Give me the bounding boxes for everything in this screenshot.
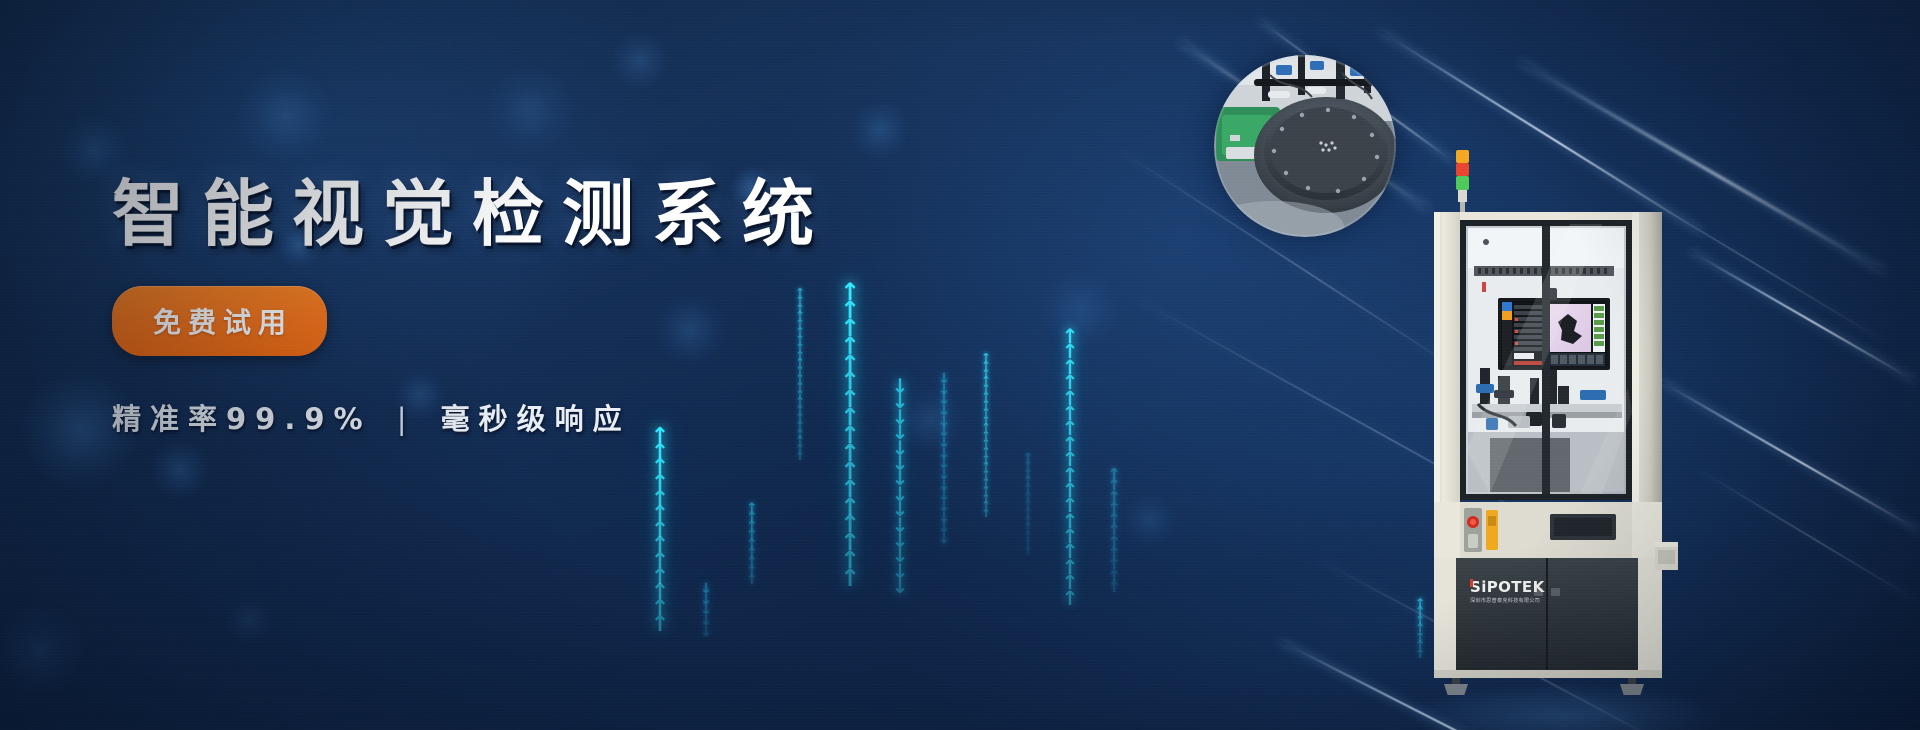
chevron-down-icon: ↓ [892,395,909,407]
bowl-feeder-inset-photo [1214,55,1396,237]
chevron-up-icon: ↑ [1108,538,1121,547]
chevron-up-icon: ↑ [1062,592,1079,604]
chevron-up-icon: ↑ [1415,642,1425,649]
chevron-column: ↑↑↑↑↑↑↑↑↑↑↑↑↑↑↑↑↑↑ [1050,330,1090,607]
brand-logo-plate: SiPOTEK 深圳市思普泰克科技有限公司 [1470,578,1546,604]
chevron-down-icon: ↓ [700,596,712,605]
chevron-up-icon: ↑ [1415,651,1425,658]
cta-row: 免费试用 [112,286,832,356]
chevron-up-icon: ↑ [840,446,860,461]
chevron-down-icon: ↓ [892,411,909,423]
brand-sub-text: 深圳市思普泰克科技有限公司 [1470,596,1540,604]
chevron-up-icon: ↑ [840,339,860,354]
chevron-column: ↑↑↑↑↑↑↑↑↑↑↑↑↑↑↑↑↑↑↑↑↑ [975,355,997,519]
chevron-up-icon: ↑ [981,386,990,393]
chevron-down-icon: ↓ [892,488,909,500]
chevron-down-icon: ↓ [892,472,909,484]
chevron-up-icon: ↑ [840,535,860,550]
chevron-up-icon: ↑ [1023,549,1032,556]
chevron-up-icon: ↑ [840,482,860,497]
chevron-up-icon: ↑ [981,363,990,370]
chevron-up-icon: ↑ [840,464,860,479]
chevron-down-icon: ↓ [938,524,950,533]
chevron-up-icon: ↑ [840,571,860,586]
chevron-up-icon: ↑ [795,446,804,453]
bowl-feeder-illustration [1214,55,1396,237]
chevron-up-icon: ↑ [651,493,669,507]
chevron-down-icon: ↓ [892,565,909,577]
chevron-up-icon: ↑ [1108,470,1121,479]
chevron-up-icon: ↑ [1108,572,1121,581]
chevron-down-icon: ↓ [938,375,950,384]
chevron-up-icon: ↑ [840,517,860,532]
chevron-down-icon: ↓ [892,457,909,469]
chevron-up-icon: ↑ [747,532,758,540]
chevron-up-icon: ↑ [981,480,990,487]
chevron-down-icon: ↓ [892,442,909,454]
hero-text-block: 智能视觉检测系统 免费试用 精准率99.9% | 毫秒级响应 [112,178,832,438]
chevron-up-icon: ↑ [840,500,860,515]
chevron-column: ↑↑↑↑↑↑↑↑↑ [739,505,765,586]
chevron-up-icon: ↑ [1062,484,1079,496]
chevron-up-icon: ↑ [840,553,860,568]
chevron-up-icon: ↑ [747,550,758,558]
chevron-column: ↑↑↑↑↑↑↑↑↑↑↑↑↑↑↑↑↑ [826,285,874,589]
chevron-up-icon: ↑ [1023,455,1032,462]
bokeh-dot [610,30,670,90]
chevron-up-icon: ↑ [981,441,990,448]
bokeh-dot [1040,270,1120,350]
hero-banner: ↑↑↑↑↑↑↑↑↑↑↑↑↑↓↓↓↓↓↑↑↑↑↑↑↑↑↑↑↑↑↑↑↑↑↑↑↑↑↑↑… [0,0,1920,730]
chevron-up-icon: ↑ [651,571,669,585]
chevron-up-icon: ↑ [1108,560,1121,569]
chevron-up-icon: ↑ [981,488,990,495]
chevron-up-icon: ↑ [1062,469,1079,481]
chevron-column: ↑↑↑↑↑↑↑↑↑↑↑ [1099,470,1129,594]
chevron-up-icon: ↑ [981,496,990,503]
chevron-up-icon: ↑ [651,555,669,569]
chevron-up-icon: ↑ [981,394,990,401]
machine-illustration: SiPOTEK 深圳市思普泰克科技有限公司 [1430,150,1678,695]
chevron-down-icon: ↓ [938,386,950,395]
chevron-up-icon: ↑ [1062,330,1079,342]
chevron-up-icon: ↑ [1108,526,1121,535]
chevron-up-icon: ↑ [981,464,990,471]
free-trial-button[interactable]: 免费试用 [112,286,327,356]
chevron-up-icon: ↑ [651,586,669,600]
chevron-up-icon: ↑ [840,285,860,300]
bokeh-dot [150,440,210,500]
chevron-up-icon: ↑ [1062,438,1079,450]
chevron-up-icon: ↑ [1062,561,1079,573]
chevron-up-icon: ↑ [1108,493,1121,502]
chevron-up-icon: ↑ [1062,515,1079,527]
chevron-up-icon: ↑ [651,461,669,475]
machine-feet [1443,678,1645,695]
chevron-up-icon: ↑ [1415,625,1425,632]
stat-accuracy: 精准率99.9% [112,402,372,436]
chevron-up-icon: ↑ [1415,617,1425,624]
chevron-up-icon: ↑ [981,472,990,479]
brand-logo-text: SiPOTEK [1470,578,1546,596]
chevron-down-icon: ↓ [938,471,950,480]
chevron-down-icon: ↓ [892,549,909,561]
bokeh-dot [0,605,85,695]
chevron-up-icon: ↑ [1062,407,1079,419]
chevron-up-icon: ↑ [1062,545,1079,557]
chevron-up-icon: ↑ [747,514,758,522]
chevron-up-icon: ↑ [840,392,860,407]
chevron-up-icon: ↑ [651,477,669,491]
chevron-down-icon: ↓ [938,482,950,491]
chevron-up-icon: ↑ [840,357,860,372]
chevron-down-icon: ↓ [938,407,950,416]
chevron-up-icon: ↑ [1062,422,1079,434]
chevron-up-icon: ↑ [840,428,860,443]
light-streak [1700,470,1915,600]
chevron-up-icon: ↑ [747,505,758,513]
chevron-down-icon: ↓ [938,535,950,544]
chevron-up-icon: ↑ [1023,494,1032,501]
chevron-up-icon: ↑ [981,503,990,510]
chevron-up-icon: ↑ [1023,541,1032,548]
chevron-down-icon: ↓ [700,585,712,594]
chevron-up-icon: ↑ [1062,392,1079,404]
chevron-column: ↓↓↓↓↓↓↓↓↓↓↓↓↓↓ [880,380,920,595]
chevron-up-icon: ↑ [1108,515,1121,524]
bokeh-dot [238,68,333,163]
chevron-up-icon: ↑ [981,511,990,518]
chevron-up-icon: ↑ [840,303,860,318]
inspection-machine-photo: SiPOTEK 深圳市思普泰克科技有限公司 [1430,150,1678,695]
chevron-up-icon: ↑ [1023,518,1032,525]
bokeh-dot [225,595,275,645]
chevron-up-icon: ↑ [1023,510,1032,517]
chevron-up-icon: ↑ [747,559,758,567]
chevron-up-icon: ↑ [1108,481,1121,490]
light-streak [1660,380,1920,532]
chevron-column: ↑↑↑↑↑↑↑↑↑↑↑↑↑ [1017,455,1039,557]
chevron-down-icon: ↓ [938,396,950,405]
chevron-column: ↑↑↑↑↑↑↑↑↑↑↑↑↑ [638,430,682,633]
chevron-up-icon: ↑ [1062,453,1079,465]
chevron-up-icon: ↑ [1023,502,1032,509]
chevron-up-icon: ↑ [651,539,669,553]
chevron-up-icon: ↑ [651,524,669,538]
chevron-down-icon: ↓ [892,380,909,392]
chevron-up-icon: ↑ [1108,549,1121,558]
bokeh-dot [897,387,963,453]
chevron-up-icon: ↑ [747,523,758,531]
chevron-up-icon: ↑ [651,618,669,632]
chevron-up-icon: ↑ [981,449,990,456]
chevron-up-icon: ↑ [981,371,990,378]
bokeh-dot [1123,493,1177,547]
light-streak [1690,250,1916,382]
chevron-down-icon: ↓ [938,428,950,437]
chevron-up-icon: ↑ [1062,499,1079,511]
page-title: 智能视觉检测系统 [112,178,832,250]
chevron-down-icon: ↓ [938,492,950,501]
chevron-down-icon: ↓ [892,534,909,546]
chevron-down-icon: ↓ [892,519,909,531]
chevron-down-icon: ↓ [892,426,909,438]
chevron-up-icon: ↑ [795,438,804,445]
chevron-up-icon: ↑ [981,457,990,464]
chevron-up-icon: ↑ [981,378,990,385]
chevron-up-icon: ↑ [840,321,860,336]
chevron-down-icon: ↓ [938,514,950,523]
chevron-up-icon: ↑ [981,433,990,440]
chevron-up-icon: ↑ [981,410,990,417]
chevron-up-icon: ↑ [747,541,758,549]
chevron-up-icon: ↑ [1023,486,1032,493]
chevron-down-icon: ↓ [892,580,909,592]
chevron-up-icon: ↑ [1023,478,1032,485]
chevron-up-icon: ↑ [840,374,860,389]
chevron-down-icon: ↓ [938,439,950,448]
signal-tower-lamp [1456,150,1469,215]
chevron-down-icon: ↓ [938,460,950,469]
chevron-up-icon: ↑ [747,577,758,585]
chevron-up-icon: ↑ [1023,525,1032,532]
chevron-up-icon: ↑ [981,355,990,362]
bokeh-dot [851,101,909,159]
stats-line: 精准率99.9% | 毫秒级响应 [112,396,832,438]
chevron-up-icon: ↑ [651,446,669,460]
chevron-down-icon: ↓ [938,503,950,512]
bokeh-dot [486,66,574,154]
chevron-up-icon: ↑ [1023,463,1032,470]
chevron-down-icon: ↓ [938,450,950,459]
chevron-column: ↓↓↓↓↓ [692,585,720,638]
stat-response: 毫秒级响应 [441,402,631,436]
chevron-down-icon: ↓ [700,628,712,637]
chevron-up-icon: ↑ [651,508,669,522]
chevron-up-icon: ↑ [651,602,669,616]
chevron-up-icon: ↑ [1108,504,1121,513]
chevron-up-icon: ↑ [1062,361,1079,373]
chevron-up-icon: ↑ [1415,600,1425,607]
chevron-column: ↓↓↓↓↓↓↓↓↓↓↓↓↓↓↓↓ [930,375,958,546]
chevron-up-icon: ↑ [795,454,804,461]
chevron-up-icon: ↑ [840,410,860,425]
chevron-up-icon: ↑ [981,402,990,409]
chevron-up-icon: ↑ [981,425,990,432]
chevron-column: ↑↑↑↑↑↑↑ [1408,600,1432,659]
chevron-down-icon: ↓ [700,606,712,615]
chevron-up-icon: ↑ [1062,530,1079,542]
chevron-up-icon: ↑ [1023,533,1032,540]
chevron-up-icon: ↑ [1415,634,1425,641]
chevron-up-icon: ↑ [1062,376,1079,388]
chevron-up-icon: ↑ [747,568,758,576]
chevron-up-icon: ↑ [1415,608,1425,615]
chevron-up-icon: ↑ [1108,583,1121,592]
chevron-down-icon: ↓ [700,617,712,626]
chevron-up-icon: ↑ [1023,471,1032,478]
chevron-down-icon: ↓ [892,503,909,515]
stat-divider: | [391,402,422,436]
chevron-down-icon: ↓ [938,418,950,427]
chevron-up-icon: ↑ [1062,576,1079,588]
chevron-up-icon: ↑ [981,418,990,425]
chevron-up-icon: ↑ [1062,345,1079,357]
